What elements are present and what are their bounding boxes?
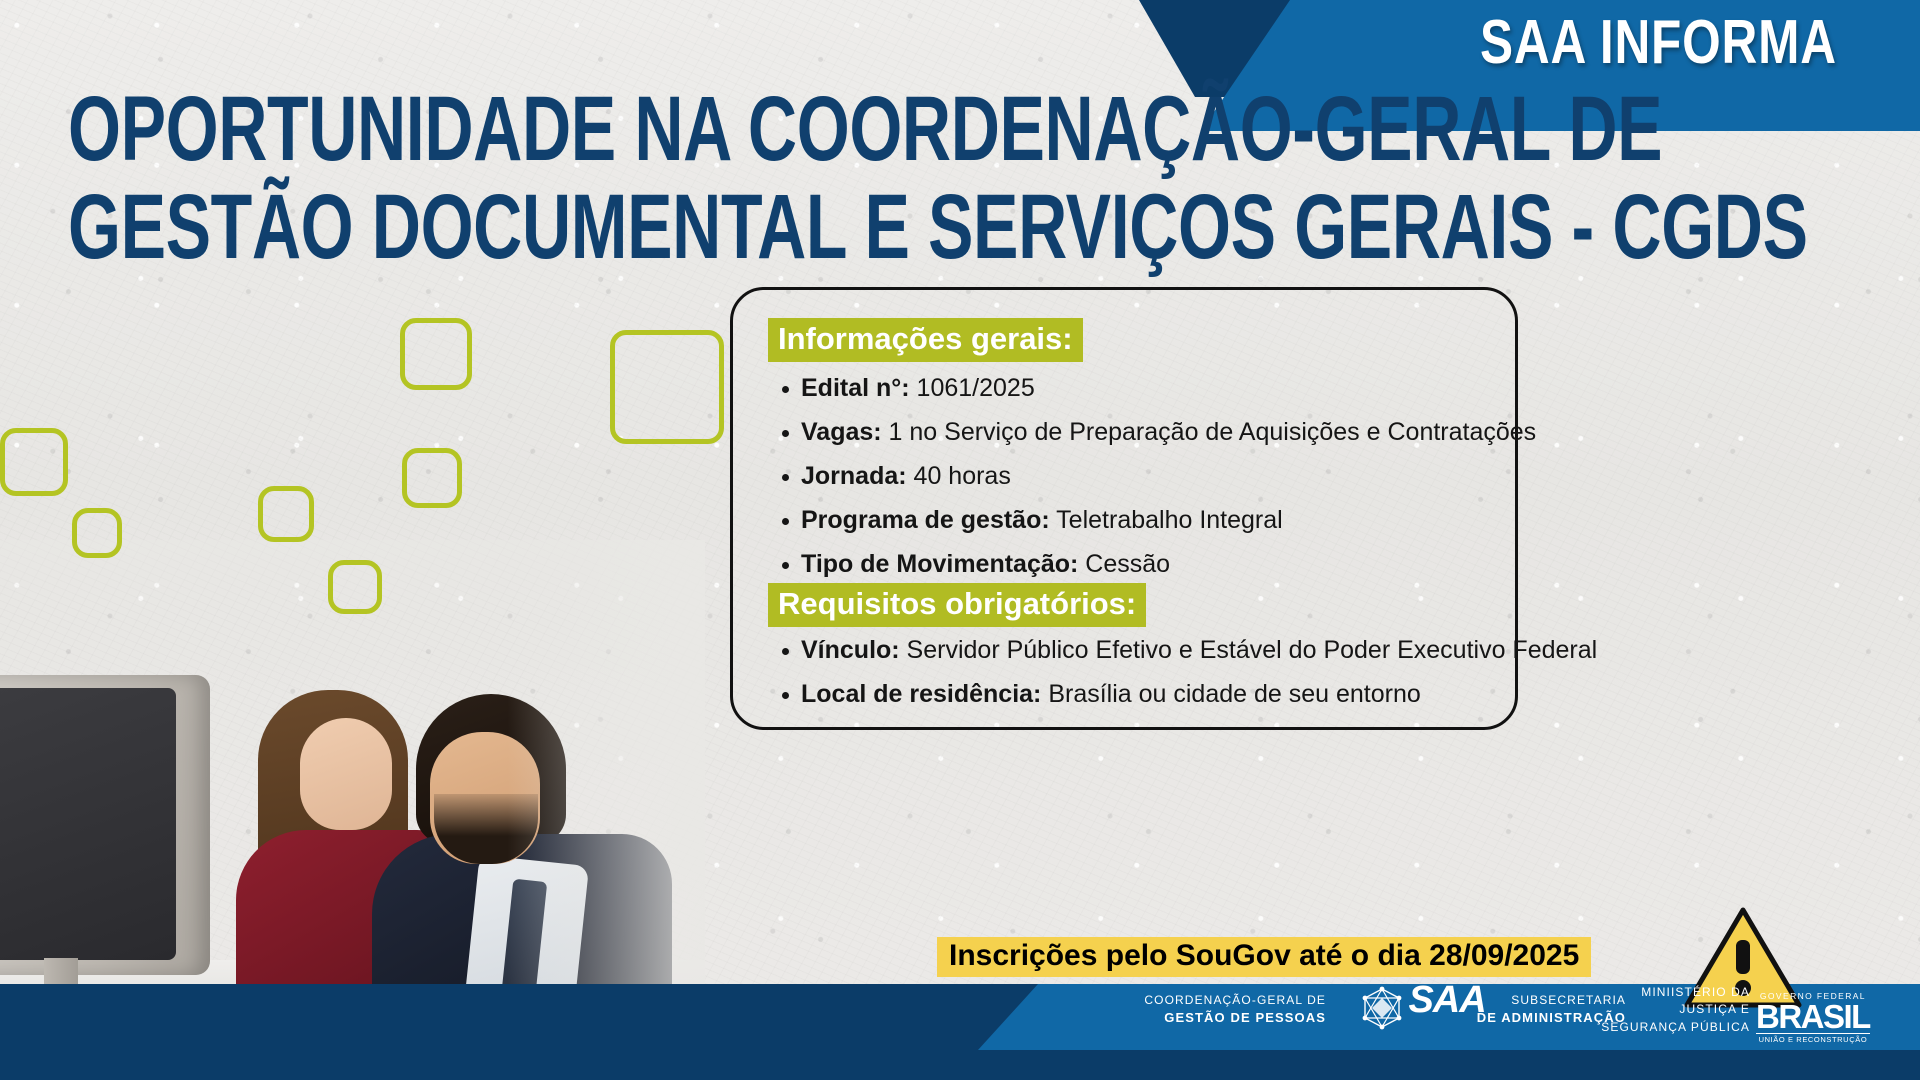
brasil-logo-bottom: UNIÃO E RECONSTRUÇÃO: [1756, 1033, 1870, 1044]
general-info-item: Programa de gestão: Teletrabalho Integra…: [775, 508, 1536, 533]
decor-square-6: [72, 508, 122, 558]
decor-square-2: [610, 330, 724, 444]
decor-square-1: [400, 318, 472, 390]
brasil-government-logo: GOVERNO FEDERAL BRASIL UNIÃO E RECONSTRU…: [1756, 991, 1870, 1044]
general-info-label: Vagas:: [801, 418, 882, 446]
footer-ministerio-line2: JUSTIÇA E: [1570, 1001, 1750, 1018]
general-info-item: Tipo de Movimentação: Cessão: [775, 552, 1536, 577]
headline-line-2: GESTÃO DOCUMENTAL E SERVIÇOS GERAIS - CG…: [68, 182, 1808, 272]
footer-ministerio-block: MINIISTÉRIO DA JUSTIÇA E SEGURANÇA PÚBLI…: [1570, 984, 1750, 1036]
footer-ministerio-line3: SEGURANÇA PÚBLICA: [1570, 1019, 1750, 1036]
general-info-item: Edital n°: 1061/2025: [775, 376, 1536, 401]
headline-line-1: OPORTUNIDADE NA COORDENAÇÃO-GERAL DE: [68, 84, 1808, 174]
requirement-label: Vínculo:: [801, 636, 900, 664]
general-info-heading: Informações gerais:: [768, 318, 1083, 362]
decor-square-3: [0, 428, 68, 496]
general-info-item: Vagas: 1 no Serviço de Preparação de Aqu…: [775, 420, 1536, 445]
general-info-value: 1 no Serviço de Preparação de Aquisições…: [882, 418, 1537, 446]
general-info-label: Edital n°:: [801, 374, 910, 402]
decor-square-5: [258, 486, 314, 542]
general-info-value: Teletrabalho Integral: [1050, 506, 1283, 534]
info-card: Informações gerais: Edital n°: 1061/2025…: [730, 287, 1518, 730]
poster-canvas: SAA INFORMA OPORTUNIDADE NA COORDENAÇÃO-…: [0, 0, 1920, 1080]
general-info-label: Jornada:: [801, 462, 907, 490]
brasil-logo-main: BRASIL: [1756, 1001, 1870, 1032]
page-title: OPORTUNIDADE NA COORDENAÇÃO-GERAL DE GES…: [68, 84, 1920, 272]
footer-ministerio-line1: MINIISTÉRIO DA: [1570, 984, 1750, 1001]
general-info-label: Tipo de Movimentação:: [801, 550, 1078, 578]
decor-square-4: [402, 448, 462, 508]
footer-cgdp-line2: GESTÃO DE PESSOAS: [1090, 1009, 1326, 1028]
decor-square-7: [328, 560, 382, 614]
requirement-item: Vínculo: Servidor Público Efetivo e Está…: [775, 638, 1597, 663]
footer-cgdp-line1: COORDENAÇÃO-GERAL DE: [1090, 992, 1326, 1009]
saa-polyhedron-icon: [1360, 986, 1404, 1030]
requirement-value: Servidor Público Efetivo e Estável do Po…: [900, 636, 1598, 664]
general-info-value: Cessão: [1078, 550, 1170, 578]
footer-cgdp-block: COORDENAÇÃO-GERAL DE GESTÃO DE PESSOAS: [1090, 992, 1326, 1028]
general-info-label: Programa de gestão:: [801, 506, 1050, 534]
general-info-value: 1061/2025: [910, 374, 1035, 402]
registration-deadline-banner: Inscrições pelo SouGov até o dia 28/09/2…: [937, 937, 1591, 977]
requirement-value: Brasília ou cidade de seu entorno: [1041, 680, 1420, 708]
requirements-heading: Requisitos obrigatórios:: [768, 583, 1146, 627]
requirement-label: Local de residência:: [801, 680, 1041, 708]
general-info-item: Jornada: 40 horas: [775, 464, 1536, 489]
saa-informa-label: SAA INFORMA: [1480, 12, 1837, 74]
requirements-list: Vínculo: Servidor Público Efetivo e Está…: [775, 638, 1597, 726]
general-info-value: 40 horas: [907, 462, 1011, 490]
requirement-item: Local de residência: Brasília ou cidade …: [775, 682, 1597, 707]
